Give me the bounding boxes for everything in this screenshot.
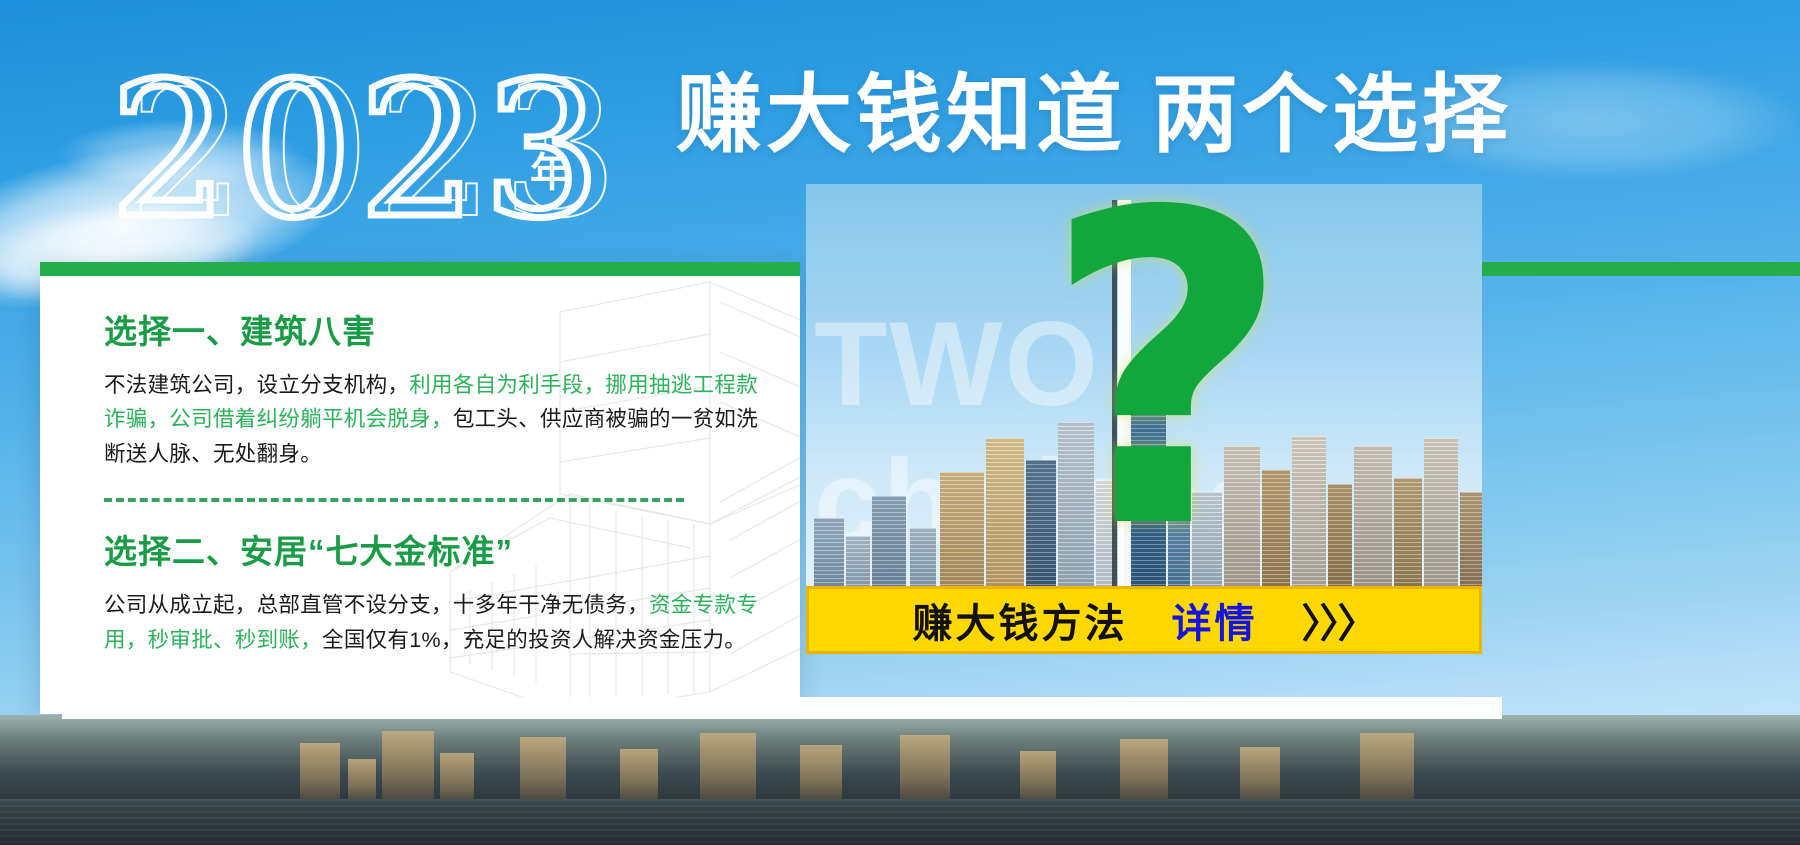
poster-canvas: 2023 2023 年 赚大钱知道两个选择: [0, 0, 1800, 845]
card-top-accent-bar: [40, 262, 800, 276]
headline-part-1: 赚大钱知道: [676, 67, 1126, 163]
year-suffix-label: 年: [530, 140, 572, 198]
page-title: 赚大钱知道两个选择: [676, 72, 1512, 158]
section-1-title: 选择一、建筑八害: [104, 312, 784, 352]
chevron-right-icon: 〉〉〉: [1302, 591, 1376, 649]
card-section-2: 选择二、安居“七大金标准” 公司从成立起，总部直管不设分支，十多年干净无债务，资…: [104, 532, 784, 657]
bottom-photo-strip: [0, 715, 1800, 845]
cta-link-label[interactable]: 详情: [1172, 591, 1258, 649]
section-2-title: 选择二、安居“七大金标准”: [104, 532, 784, 572]
section-2-body-part-3: 全国仅有1%，充足的投资人解决资金压力。: [322, 628, 746, 652]
cta-main-label: 赚大钱方法: [913, 591, 1128, 649]
card-body: 选择一、建筑八害 不法建筑公司，设立分支机构，利用各自为利手段，挪用抽逃工程款诈…: [104, 312, 784, 657]
section-2-body: 公司从成立起，总部直管不设分支，十多年干净无债务，资金专款专用，秒审批、秒到账，…: [104, 588, 776, 658]
cta-button[interactable]: 赚大钱方法 详情 〉〉〉: [806, 586, 1482, 654]
footer-white-plate: [62, 697, 1502, 719]
illustration-panel: TWO choices ?: [806, 184, 1482, 588]
headline-part-2: 两个选择: [1152, 67, 1512, 163]
section-1-body-part-1: 不法建筑公司，设立分支机构，: [104, 373, 409, 397]
right-green-accent-bar: [1482, 262, 1800, 276]
section-1-body: 不法建筑公司，设立分支机构，利用各自为利手段，挪用抽逃工程款诈骗，公司借着纠纷躺…: [104, 368, 776, 472]
card-section-1: 选择一、建筑八害 不法建筑公司，设立分支机构，利用各自为利手段，挪用抽逃工程款诈…: [104, 312, 784, 472]
content-card: 选择一、建筑八害 不法建筑公司，设立分支机构，利用各自为利手段，挪用抽逃工程款诈…: [40, 262, 800, 714]
section-2-body-part-1: 公司从成立起，总部直管不设分支，十多年干净无债务，: [104, 593, 649, 617]
section-divider: [104, 498, 684, 502]
question-mark-icon: ?: [1042, 184, 1291, 588]
